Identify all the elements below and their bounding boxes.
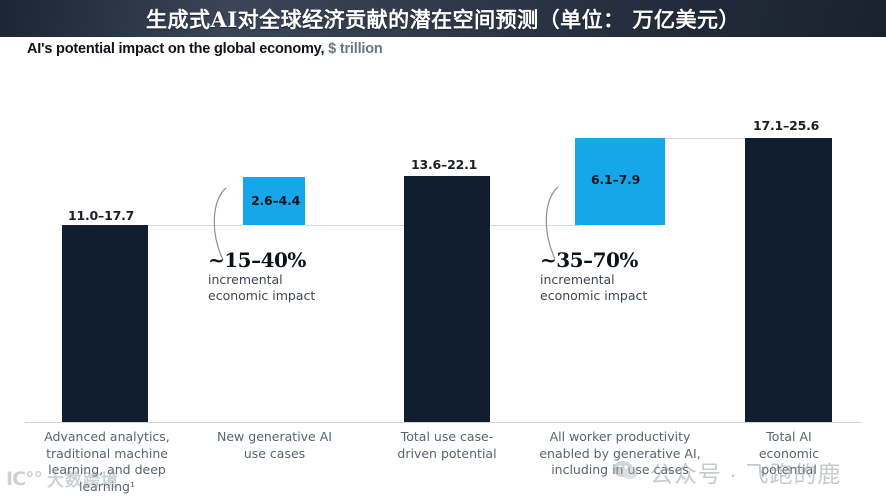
- callout-2-line1: incremental: [540, 272, 647, 288]
- callout-2-percent: ~35–70%: [540, 248, 647, 272]
- bar-label-2: 13.6–22.1: [411, 157, 477, 172]
- bar-0[interactable]: [62, 225, 148, 422]
- connector-3: [490, 225, 580, 226]
- callout-1-line2: economic impact: [208, 288, 315, 304]
- waterfall-chart: 11.0–17.7 2.6–4.4 ~15–40% incremental ec…: [0, 68, 886, 501]
- page-title: 生成式AI对全球经济贡献的潜在空间预测（单位： 万亿美元）: [146, 4, 740, 34]
- bar-value-1: 2.6–4.4: [251, 193, 300, 208]
- bar-label-0: 11.0–17.7: [68, 208, 134, 223]
- watermark-left-text: 大数跨境: [47, 466, 119, 491]
- chart-subtitle-units: $ trillion: [328, 41, 382, 57]
- title-bar: 生成式AI对全球经济贡献的潜在空间预测（单位： 万亿美元）: [0, 0, 886, 37]
- callout-1-percent: ~15–40%: [208, 248, 315, 272]
- watermark-chat-icon: [612, 459, 638, 481]
- category-label-1: New generative AI use cases: [206, 429, 343, 462]
- connector-4: [665, 138, 747, 139]
- watermark-left: IC°° 大数跨境: [6, 466, 119, 491]
- connector-1: [148, 225, 243, 226]
- bar-value-3: 6.1–7.9: [591, 172, 640, 187]
- bar-2[interactable]: [404, 176, 490, 422]
- chart-subtitle-bold: AI's potential impact on the global econ…: [27, 41, 324, 57]
- watermark-left-logo: IC°°: [6, 468, 42, 490]
- callout-2: ~35–70% incremental economic impact: [540, 248, 647, 304]
- callout-1-line1: incremental: [208, 272, 315, 288]
- callout-1: ~15–40% incremental economic impact: [208, 248, 315, 304]
- watermark-right: 公众号 · 飞跑的鹿: [650, 455, 841, 489]
- callout-2-line2: economic impact: [540, 288, 647, 304]
- category-label-2: Total use case-driven potential: [390, 429, 504, 462]
- chart-subtitle: AI's potential impact on the global econ…: [27, 41, 383, 57]
- bar-label-4: 17.1–25.6: [753, 118, 819, 133]
- axis-baseline: [25, 422, 862, 423]
- bar-4[interactable]: [745, 138, 832, 422]
- connector-2: [305, 225, 415, 226]
